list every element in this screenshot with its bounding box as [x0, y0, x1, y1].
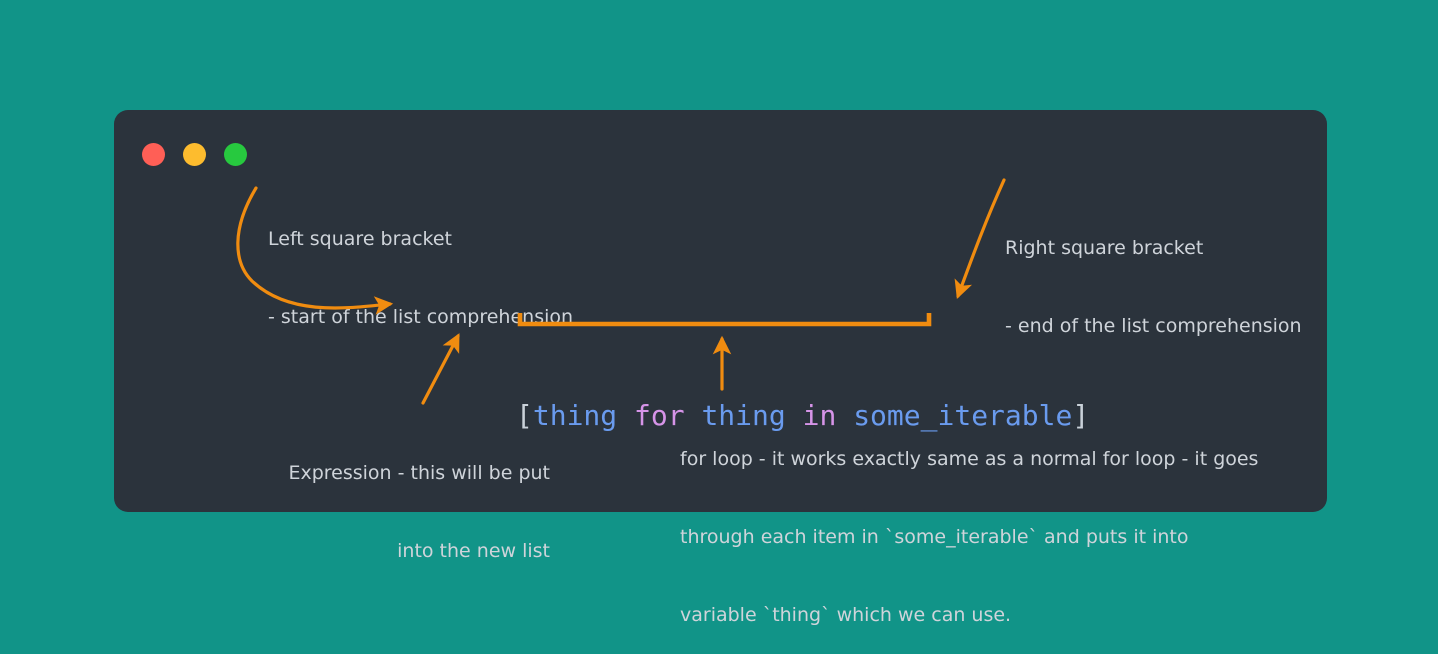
- annotation-left-bracket-line1: Left square bracket: [268, 226, 573, 252]
- code-token-space-1: [617, 399, 634, 432]
- minimize-window-button[interactable]: [183, 143, 206, 166]
- code-token-keyword-for: for: [634, 399, 685, 432]
- annotation-left-bracket-line2: - start of the list comprehension: [268, 304, 573, 330]
- annotation-right-bracket-line1: Right square bracket: [1005, 235, 1302, 261]
- annotation-right-bracket: Right square bracket - end of the list c…: [1005, 183, 1302, 365]
- annotation-expression-line2: into the new list: [268, 538, 550, 564]
- annotation-expression-line1: Expression - this will be put: [268, 460, 550, 486]
- annotation-for-loop-line1: for loop - it works exactly same as a no…: [680, 446, 1258, 472]
- window-traffic-lights: [142, 143, 247, 166]
- annotation-right-bracket-line2: - end of the list comprehension: [1005, 313, 1302, 339]
- close-window-button[interactable]: [142, 143, 165, 166]
- maximize-window-button[interactable]: [224, 143, 247, 166]
- annotation-for-loop-line2: through each item in `some_iterable` and…: [680, 524, 1258, 550]
- annotation-expression: Expression - this will be put into the n…: [268, 408, 550, 590]
- annotation-for-loop: for loop - it works exactly same as a no…: [680, 394, 1258, 654]
- annotation-for-loop-line3: variable `thing` which we can use.: [680, 602, 1258, 628]
- annotation-left-bracket: Left square bracket - start of the list …: [268, 174, 573, 356]
